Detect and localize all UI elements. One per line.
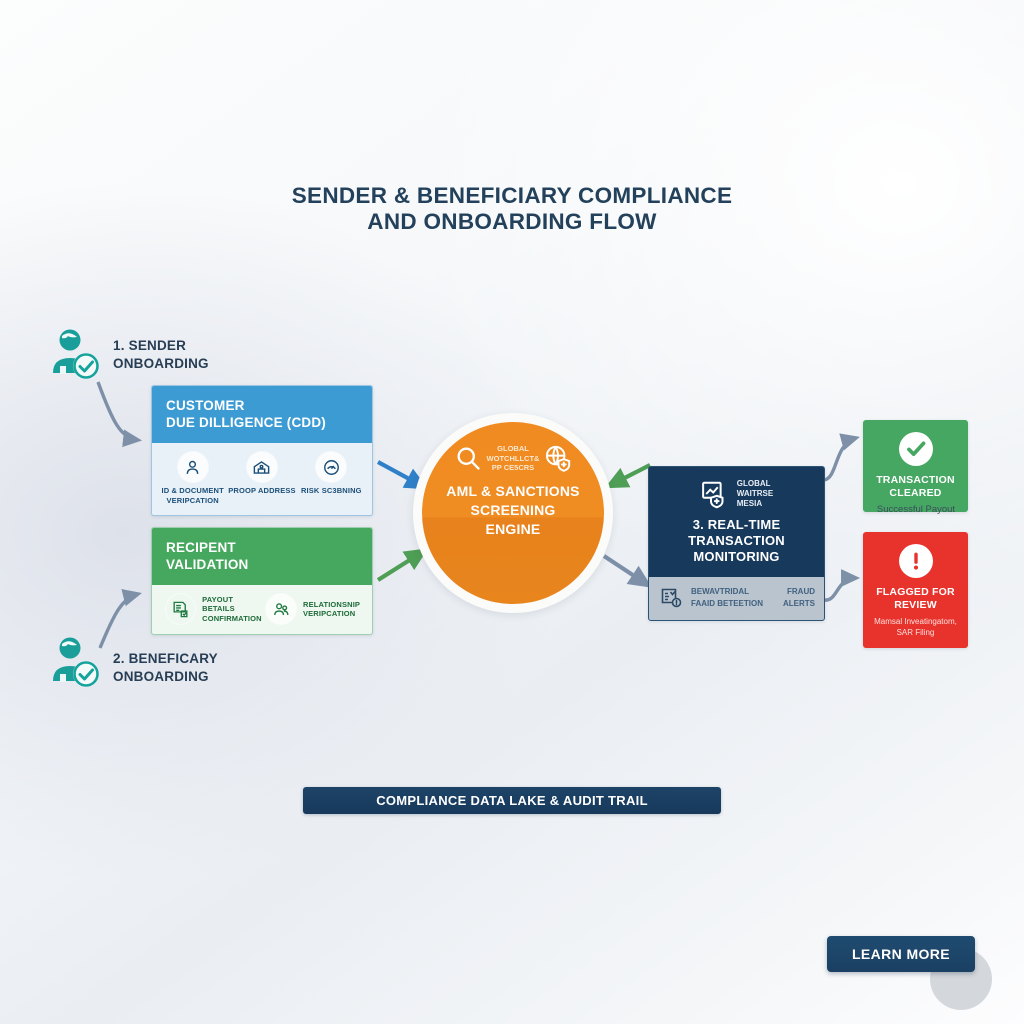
arrow-monitor-to-cleared [824, 438, 856, 480]
customer-due-diligence-card[interactable]: CUSTOMER DUE DILLIGENCE (CDD) ID & DOCUM… [151, 385, 373, 516]
result-transaction-cleared[interactable]: TRANSACTION CLEARED [863, 420, 968, 512]
page-title-line2: AND ONBOARDING FLOW [0, 209, 1024, 235]
monitor-top-row: GLOBAL WAITRSE MESIA [649, 467, 824, 513]
recipient-validation-card[interactable]: RECIPENT VALIDATION PAYOUT BETAILS CONFI… [151, 527, 373, 635]
engine-icon-row: GLOBAL WOTCHLLCT& PP CE5CRS [454, 444, 573, 473]
learn-more-button[interactable]: LEARN MORE [827, 936, 975, 972]
result-flagged-for-review[interactable]: FLAGGED FOR REVIEW Mamsal Inveatingatom,… [863, 532, 968, 648]
relationship-icon [266, 594, 296, 624]
cdd-card-body: ID & DOCUMENT VERIPCATION PROOP ADDRESS [152, 443, 372, 515]
cdd-feature-id-verification[interactable]: ID & DOCUMENT VERIPCATION [158, 452, 227, 505]
page-title: SENDER & BENEFICIARY COMPLIANCE AND ONBO… [0, 183, 1024, 235]
compliance-data-lake-bar[interactable]: COMPLIANCE DATA LAKE & AUDIT TRAIL [303, 787, 721, 814]
payout-document-icon [166, 594, 195, 624]
address-proof-icon [247, 452, 277, 482]
cleared-caption: Successful Payout [855, 504, 977, 516]
cdd-card-header: CUSTOMER DUE DILLIGENCE (CDD) [152, 386, 372, 443]
person-check-icon-sender [46, 326, 102, 382]
recipient-feature-2-caption: RELATIONSNIP VERIPCATION [303, 600, 360, 619]
risk-score-icon [316, 452, 346, 482]
globe-shield-icon [544, 444, 572, 472]
arrow-recipient-to-engine [378, 551, 424, 580]
monitor-top-text: GLOBAL WAITRSE MESIA [737, 479, 773, 509]
engine-inner: GLOBAL WOTCHLLCT& PP CE5CRS AML & SANCTI… [422, 422, 604, 604]
flagged-subtext: Mamsal Inveatingatom, SAR Filing [868, 616, 963, 648]
recipient-card-header: RECIPENT VALIDATION [152, 528, 372, 585]
transaction-monitoring-card[interactable]: GLOBAL WAITRSE MESIA 3. REAL-TIME TRANSA… [648, 466, 825, 621]
check-circle-icon [899, 432, 933, 466]
cdd-feature-2-caption: PROOP ADDRESS [228, 486, 295, 496]
arrow-monitor-to-flagged [824, 578, 856, 600]
user-id-icon [178, 452, 208, 482]
monitor-sub-panel[interactable]: BEWAVTRIDAL FRAUD FAAID BETEETION ALERTS [649, 577, 824, 620]
monitor-sub-text: BEWAVTRIDAL FRAUD FAAID BETEETION ALERTS [691, 587, 815, 609]
engine-title: AML & SANCTIONS SCREENING ENGINE [446, 482, 579, 539]
step-label-sender: 1. SENDER ONBOARDING [113, 337, 209, 373]
recipient-feature-1-caption: PAYOUT BETAILS CONFIRMATION [202, 595, 266, 624]
step-sender-line1: 1. SENDER [113, 337, 209, 355]
cdd-header-line1: CUSTOMER [166, 397, 358, 414]
magnifier-icon [454, 444, 482, 472]
behavioral-alert-icon [659, 586, 683, 610]
cdd-feature-risk-scoring[interactable]: RISK SC3BNING [297, 452, 366, 496]
flagged-title: FLAGGED FOR REVIEW [863, 586, 968, 616]
chart-shield-icon [700, 479, 730, 509]
recipient-feature-payout-details[interactable]: PAYOUT BETAILS CONFIRMATION [166, 594, 266, 624]
recipient-card-body: PAYOUT BETAILS CONFIRMATION RELATIONSNIP… [152, 585, 372, 634]
engine-watchlist-text: GLOBAL WOTCHLLCT& PP CE5CRS [487, 444, 540, 473]
step-beneficiary-line1: 2. BENEFICARY [113, 650, 218, 668]
step-sender-line2: ONBOARDING [113, 355, 209, 373]
recipient-header-line1: RECIPENT [166, 539, 358, 556]
cdd-header-line2: DUE DILLIGENCE (CDD) [166, 414, 358, 431]
cdd-feature-3-caption: RISK SC3BNING [301, 486, 362, 496]
monitor-title: 3. REAL-TIME TRANSACTION MONITORING [649, 513, 824, 577]
cdd-feature-proof-address[interactable]: PROOP ADDRESS [228, 452, 297, 496]
arrow-monitor-to-engine [609, 465, 650, 486]
arrow-engine-to-monitor [604, 556, 648, 585]
cdd-feature-1-caption: ID & DOCUMENT VERIPCATION [161, 486, 223, 505]
person-check-icon-beneficiary [46, 634, 102, 690]
alert-circle-icon [899, 544, 933, 578]
step-label-beneficiary: 2. BENEFICARY ONBOARDING [113, 650, 218, 686]
arrow-sender-to-cdd [98, 382, 138, 440]
recipient-header-line2: VALIDATION [166, 556, 358, 573]
page-title-line1: SENDER & BENEFICIARY COMPLIANCE [0, 183, 1024, 209]
recipient-feature-relationship[interactable]: RELATIONSNIP VERIPCATION [266, 594, 366, 624]
step-beneficiary-line2: ONBOARDING [113, 668, 218, 686]
arrow-beneficiary-to-recipient [100, 594, 138, 648]
aml-screening-engine-node[interactable]: GLOBAL WOTCHLLCT& PP CE5CRS AML & SANCTI… [413, 413, 613, 613]
diagram-canvas: SENDER & BENEFICIARY COMPLIANCE AND ONBO… [0, 0, 1024, 1024]
